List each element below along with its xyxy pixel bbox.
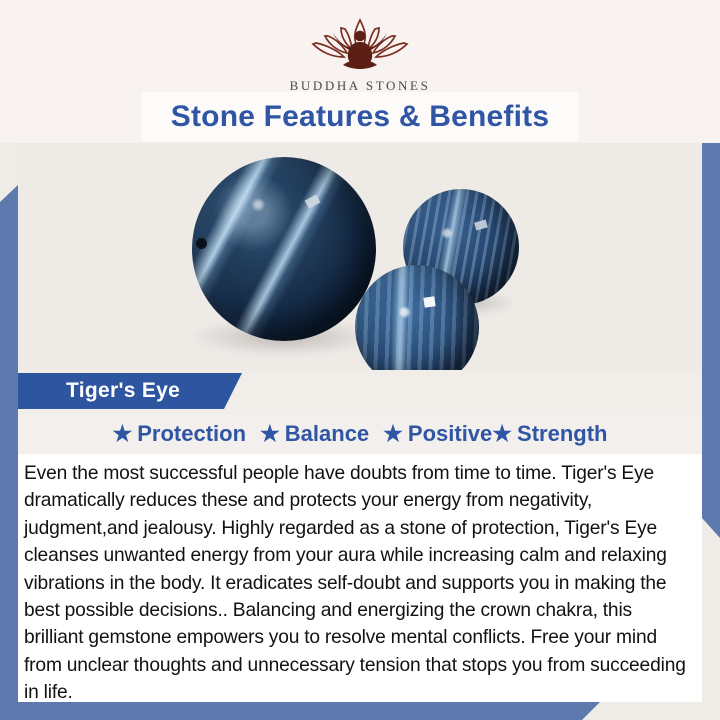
benefit-positive: ★ Positive	[383, 421, 492, 447]
brand-logo: BUDDHA STONES	[0, 16, 720, 94]
stone-name-tab: Tiger's Eye	[18, 373, 242, 409]
benefit-balance: ★ Balance	[260, 421, 369, 447]
benefit-strength-label: Strength	[517, 421, 607, 447]
benefit-balance-label: Balance	[285, 421, 369, 447]
star-icon: ★	[260, 421, 280, 447]
benefit-protection-label: Protection	[137, 421, 246, 447]
star-icon: ★	[492, 421, 512, 447]
benefit-positive-label: Positive	[408, 421, 492, 447]
medium-stone-highlight	[474, 220, 488, 231]
frame-left-bar	[0, 185, 18, 702]
stone-name-label: Tiger's Eye	[66, 379, 180, 403]
large-stone-highlight	[305, 195, 321, 209]
benefits-row: ★ Protection ★ Balance ★ Positive ★ Stre…	[18, 414, 702, 454]
description-zone: Even the most successful people have dou…	[18, 454, 702, 702]
star-icon: ★	[113, 421, 133, 447]
title-banner: Stone Features & Benefits	[142, 92, 578, 141]
gemstone-photo	[18, 143, 702, 370]
stone-name-row: Tiger's Eye	[18, 370, 702, 414]
page-title: Stone Features & Benefits	[171, 100, 549, 134]
description-text: Even the most successful people have dou…	[24, 460, 688, 707]
star-icon: ★	[383, 421, 403, 447]
large-stone	[192, 157, 376, 341]
benefit-strength: ★ Strength	[492, 421, 607, 447]
large-stone-pit	[196, 238, 207, 249]
stone-features-infographic: BUDDHA STONES Stone Features & Benefits …	[0, 0, 720, 720]
small-stone-highlight	[424, 297, 436, 308]
benefit-protection: ★ Protection	[113, 421, 247, 447]
lotus-meditation-icon	[299, 16, 421, 74]
